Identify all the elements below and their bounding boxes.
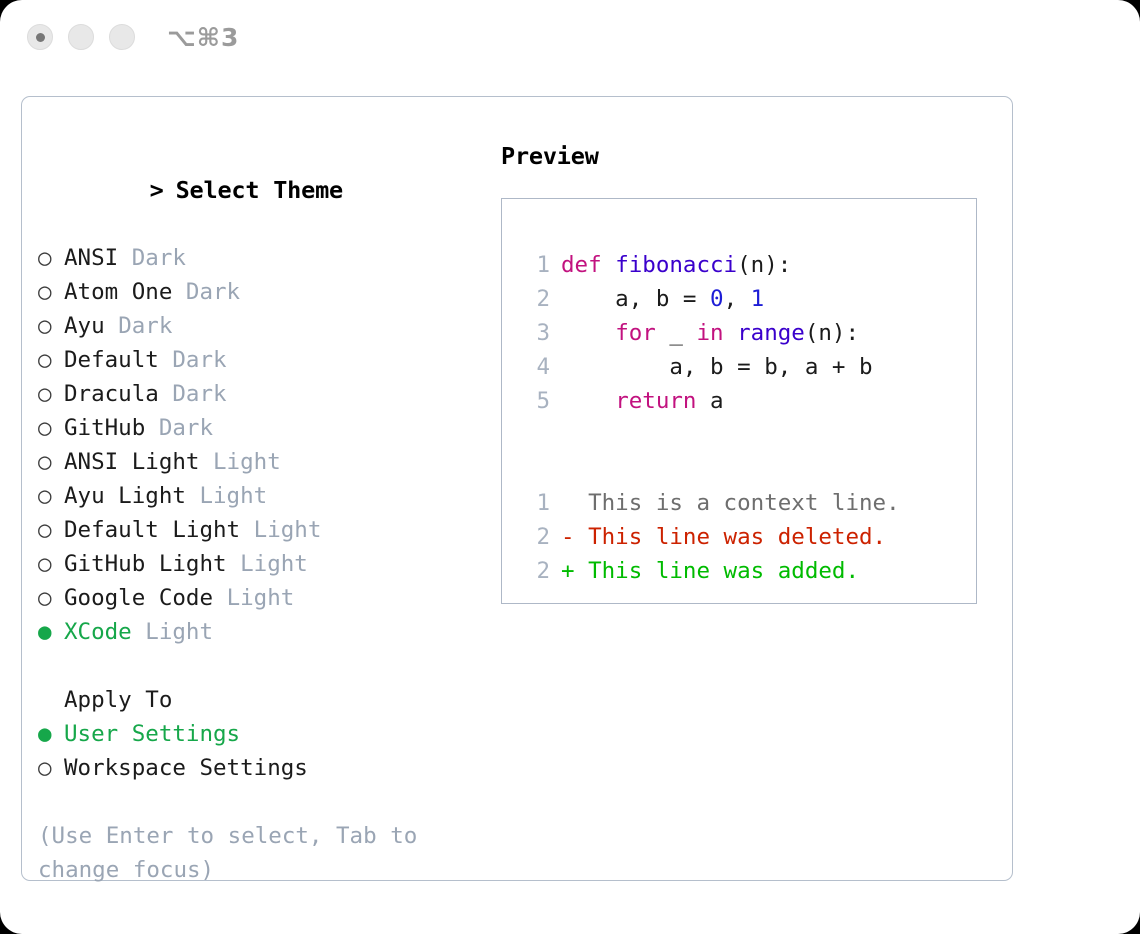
theme-list-item[interactable]: ●XCode Light [38, 615, 478, 649]
theme-name-label: ANSI [64, 245, 118, 271]
theme-name-label: Default Light [64, 517, 240, 543]
theme-list-item[interactable]: ○Ayu Dark [38, 309, 478, 343]
theme-variant-label: Light [145, 619, 213, 645]
theme-variant-label: Dark [159, 415, 213, 441]
radio-unselected-icon: ○ [38, 411, 64, 445]
theme-list-item[interactable]: ○GitHub Dark [38, 411, 478, 445]
spacer [159, 347, 173, 373]
theme-variant-label: Dark [186, 279, 240, 305]
maximize-button[interactable] [109, 24, 135, 50]
diff-line: 2+ This line was added. [520, 554, 900, 588]
caret-icon: > [150, 173, 176, 207]
radio-unselected-icon: ○ [38, 513, 64, 547]
theme-variant-label: Dark [172, 347, 226, 373]
theme-variant-label: Light [227, 585, 295, 611]
code-token: 1 [751, 286, 765, 312]
theme-list-item[interactable]: ○Ayu Light Light [38, 479, 478, 513]
keyboard-hint-text: (Use Enter to select, Tab to change focu… [38, 819, 438, 887]
app-window: ⌥⌘3 >Select Theme ○ANSI Dark○Atom One Da… [0, 0, 1140, 934]
radio-unselected-icon: ○ [38, 343, 64, 377]
spacer [199, 449, 213, 475]
code-token: def [561, 252, 602, 278]
code-token: (n): [737, 252, 791, 278]
theme-name-label: GitHub Light [64, 551, 227, 577]
preview-box: 1def fibonacci(n):2 a, b = 0, 13 for _ i… [501, 198, 977, 604]
radio-unselected-icon: ○ [38, 581, 64, 615]
spacer [227, 551, 241, 577]
code-token [561, 388, 615, 414]
radio-unselected-icon: ○ [38, 377, 64, 411]
code-line: 5 return a [520, 384, 900, 418]
theme-name-label: Atom One [64, 279, 172, 305]
theme-name-label: XCode [64, 619, 132, 645]
code-line: 4 a, b = b, a + b [520, 350, 900, 384]
theme-name-label: Google Code [64, 585, 213, 611]
line-number: 5 [520, 384, 550, 418]
keyboard-shortcut-label: ⌥⌘3 [167, 23, 239, 52]
theme-list-item[interactable]: ○Default Dark [38, 343, 478, 377]
code-token: range [737, 320, 805, 346]
preview-code: 1def fibonacci(n):2 a, b = 0, 13 for _ i… [520, 248, 900, 588]
apply-to-indent [38, 683, 64, 717]
code-token [561, 320, 615, 346]
spacer [145, 415, 159, 441]
radio-selected-icon: ● [38, 615, 64, 649]
line-number: 1 [520, 486, 550, 520]
apply-to-heading-label: Apply To [64, 687, 172, 713]
code-line: 3 for _ in range(n): [520, 316, 900, 350]
preview-heading: Preview [501, 139, 981, 173]
diff-line: 2- This line was deleted. [520, 520, 900, 554]
code-token: 0 [710, 286, 724, 312]
radio-unselected-icon: ○ [38, 751, 64, 785]
theme-name-label: Dracula [64, 381, 159, 407]
theme-list-item[interactable]: ○Google Code Light [38, 581, 478, 615]
line-number: 2 [520, 554, 550, 588]
code-token: a, b = [561, 286, 710, 312]
theme-name-label: Ayu Light [64, 483, 186, 509]
minimize-button[interactable] [68, 24, 94, 50]
spacer [172, 279, 186, 305]
line-number: 4 [520, 350, 550, 384]
theme-name-label: Default [64, 347, 159, 373]
spacer [105, 313, 119, 339]
code-token: a, b = b, a + b [561, 354, 873, 380]
radio-unselected-icon: ○ [38, 547, 64, 581]
theme-list-item[interactable]: ○Atom One Dark [38, 275, 478, 309]
spacer [159, 381, 173, 407]
preview-column: Preview 1def fibonacci(n):2 a, b = 0, 13… [501, 139, 981, 604]
theme-name-label: GitHub [64, 415, 145, 441]
select-theme-heading: >Select Theme [38, 139, 478, 241]
code-token [724, 320, 738, 346]
code-blank-line [520, 452, 900, 486]
code-token: return [615, 388, 696, 414]
apply-to-heading: Apply To [38, 683, 478, 717]
radio-unselected-icon: ○ [38, 309, 64, 343]
theme-variant-label: Dark [172, 381, 226, 407]
active-dot-icon [36, 33, 45, 42]
theme-list-item[interactable]: ○ANSI Dark [38, 241, 478, 275]
apply-to-option[interactable]: ●User Settings [38, 717, 478, 751]
diff-text: This is a context line. [561, 490, 900, 516]
code-token [602, 252, 616, 278]
theme-list-item[interactable]: ○Dracula Dark [38, 377, 478, 411]
code-token: a [696, 388, 723, 414]
theme-variant-label: Dark [118, 313, 172, 339]
theme-variant-label: Light [240, 551, 308, 577]
line-number: 3 [520, 316, 550, 350]
theme-variant-label: Light [254, 517, 322, 543]
code-token: in [696, 320, 723, 346]
code-token: , [724, 286, 751, 312]
title-bar: ⌥⌘3 [0, 0, 1140, 80]
apply-to-section: Apply To ●User Settings○Workspace Settin… [38, 683, 478, 785]
code-token: _ [656, 320, 697, 346]
traffic-lights [27, 24, 135, 50]
code-blank-line [520, 418, 900, 452]
diff-text: + This line was added. [561, 558, 859, 584]
diff-text: - This line was deleted. [561, 524, 886, 550]
apply-to-option-label: User Settings [64, 721, 240, 747]
theme-variant-label: Light [199, 483, 267, 509]
radio-unselected-icon: ○ [38, 275, 64, 309]
line-number: 2 [520, 282, 550, 316]
spacer [213, 585, 227, 611]
close-button[interactable] [27, 24, 53, 50]
code-line: 2 a, b = 0, 1 [520, 282, 900, 316]
spacer [118, 245, 132, 271]
theme-list-item[interactable]: ○Default Light Light [38, 513, 478, 547]
line-number: 2 [520, 520, 550, 554]
main-panel: >Select Theme ○ANSI Dark○Atom One Dark○A… [21, 96, 1013, 881]
theme-list: ○ANSI Dark○Atom One Dark○Ayu Dark○Defaul… [38, 241, 478, 649]
theme-list-item[interactable]: ○ANSI Light Light [38, 445, 478, 479]
theme-variant-label: Light [213, 449, 281, 475]
spacer [186, 483, 200, 509]
radio-unselected-icon: ○ [38, 241, 64, 275]
code-token: (n): [805, 320, 859, 346]
apply-to-options: ●User Settings○Workspace Settings [38, 717, 478, 785]
theme-selector-column: >Select Theme ○ANSI Dark○Atom One Dark○A… [38, 139, 478, 887]
apply-to-option[interactable]: ○Workspace Settings [38, 751, 478, 785]
radio-unselected-icon: ○ [38, 479, 64, 513]
code-token: for [615, 320, 656, 346]
spacer [240, 517, 254, 543]
code-token: fibonacci [615, 252, 737, 278]
select-theme-heading-label: Select Theme [176, 176, 343, 204]
theme-name-label: Ayu [64, 313, 105, 339]
apply-to-option-label: Workspace Settings [64, 755, 308, 781]
theme-name-label: ANSI Light [64, 449, 199, 475]
code-line: 1def fibonacci(n): [520, 248, 900, 282]
theme-variant-label: Dark [132, 245, 186, 271]
radio-unselected-icon: ○ [38, 445, 64, 479]
line-number: 1 [520, 248, 550, 282]
radio-selected-icon: ● [38, 717, 64, 751]
diff-line: 1 This is a context line. [520, 486, 900, 520]
theme-list-item[interactable]: ○GitHub Light Light [38, 547, 478, 581]
spacer [132, 619, 146, 645]
